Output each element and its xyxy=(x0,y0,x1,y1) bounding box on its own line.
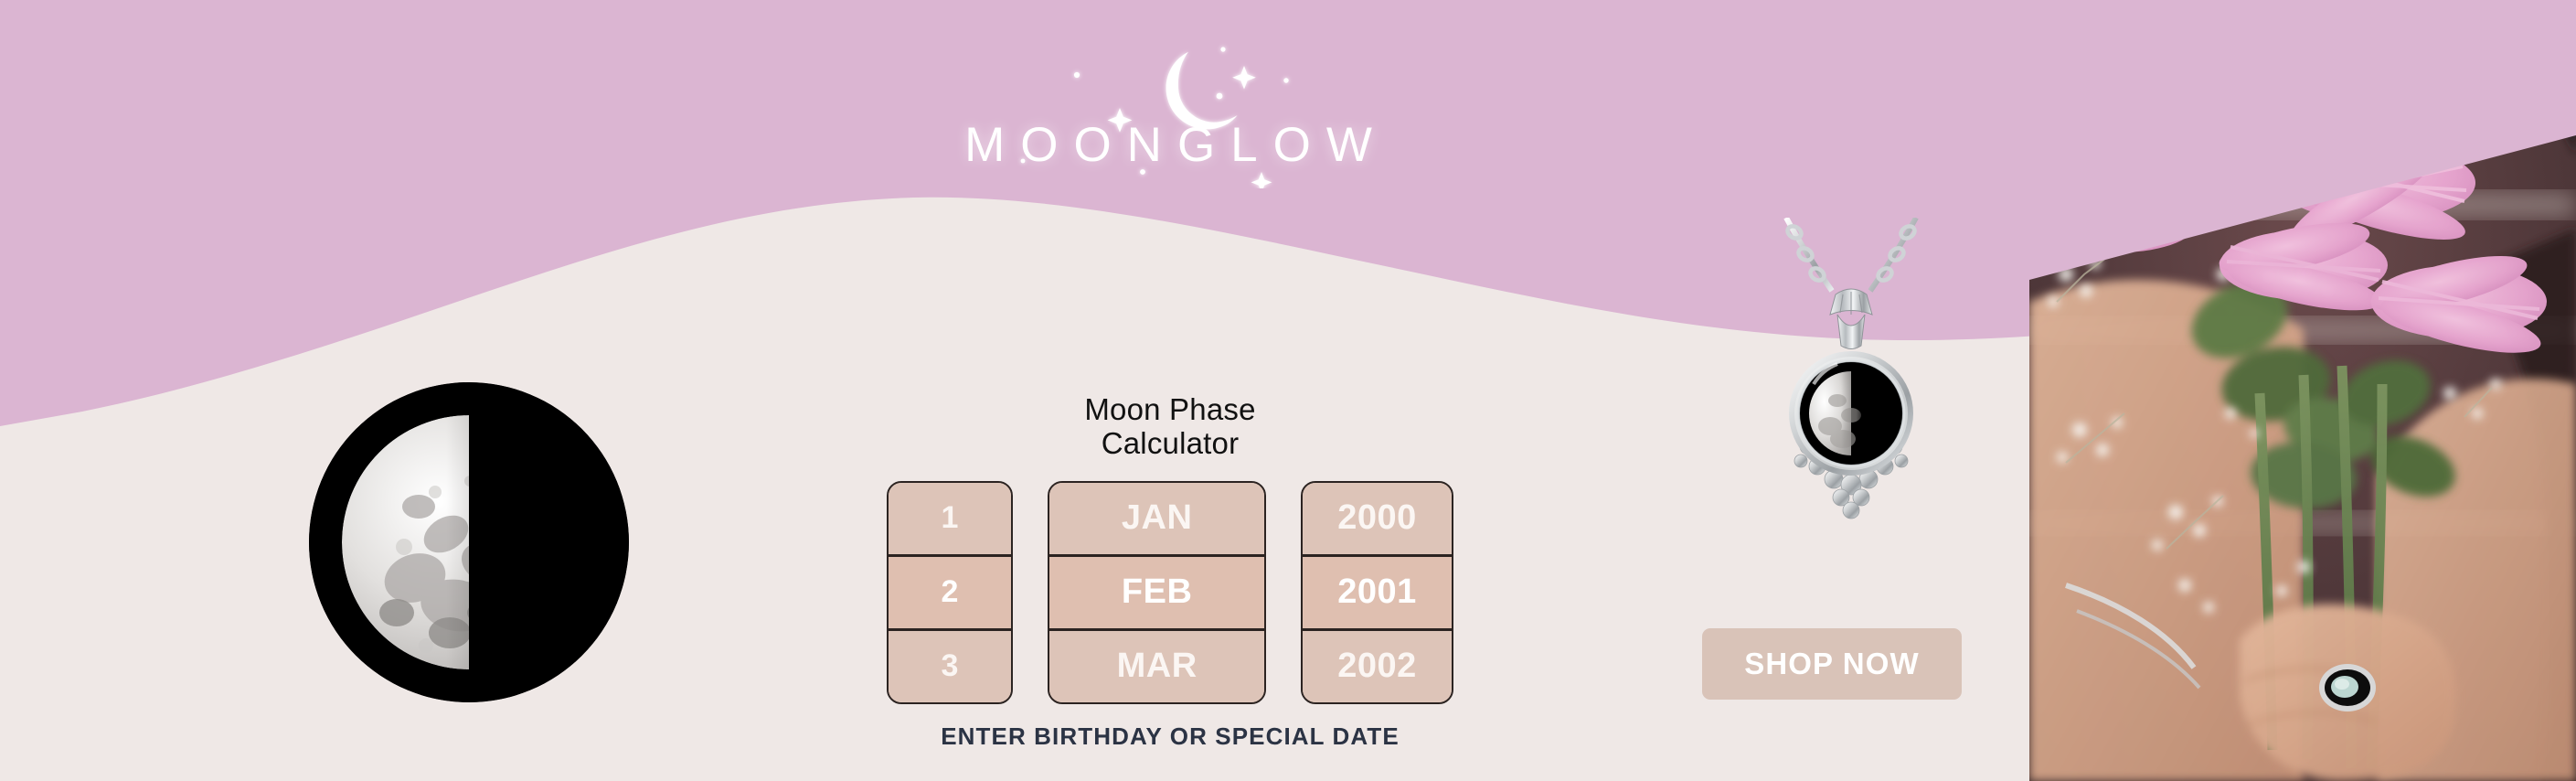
moonglow-promo-banner: MOONGLOW xyxy=(0,0,2576,781)
day-option-2[interactable]: 2 xyxy=(889,554,1011,631)
shop-now-button[interactable]: SHOP NOW xyxy=(1702,628,1962,700)
moon-phase-first-quarter-icon xyxy=(309,382,629,702)
year-option-2000[interactable]: 2000 xyxy=(1303,483,1452,554)
month-wheel[interactable]: JAN FEB MAR xyxy=(1048,481,1266,704)
year-wheel[interactable]: 2000 2001 2002 xyxy=(1301,481,1453,704)
year-option-2001[interactable]: 2001 xyxy=(1303,554,1452,631)
month-option-mar[interactable]: MAR xyxy=(1049,631,1264,702)
month-option-feb[interactable]: FEB xyxy=(1049,554,1264,631)
year-option-2002[interactable]: 2002 xyxy=(1303,631,1452,702)
day-option-3[interactable]: 3 xyxy=(889,631,1011,702)
date-wheels: 1 2 3 JAN FEB MAR 2000 2001 2002 xyxy=(887,481,1453,704)
brand-wordmark: MOONGLOW xyxy=(931,121,1406,169)
calculator-title-line2: Calculator xyxy=(887,427,1453,461)
moon-phase-calculator: Moon Phase Calculator 1 2 3 JAN FEB MAR … xyxy=(887,393,1453,751)
photo-pink-overlay xyxy=(2029,0,2576,781)
calculator-title: Moon Phase Calculator xyxy=(887,393,1453,461)
day-wheel[interactable]: 1 2 3 xyxy=(887,481,1013,704)
calculator-caption: ENTER BIRTHDAY OR SPECIAL DATE xyxy=(887,722,1453,751)
hero-photo xyxy=(2029,0,2576,781)
month-option-jan[interactable]: JAN xyxy=(1049,483,1264,554)
brand-logo: MOONGLOW xyxy=(931,33,1406,188)
moon-phase-locket-necklace-icon xyxy=(1764,218,1938,529)
day-option-1[interactable]: 1 xyxy=(889,483,1011,554)
calculator-title-line1: Moon Phase xyxy=(887,393,1453,427)
